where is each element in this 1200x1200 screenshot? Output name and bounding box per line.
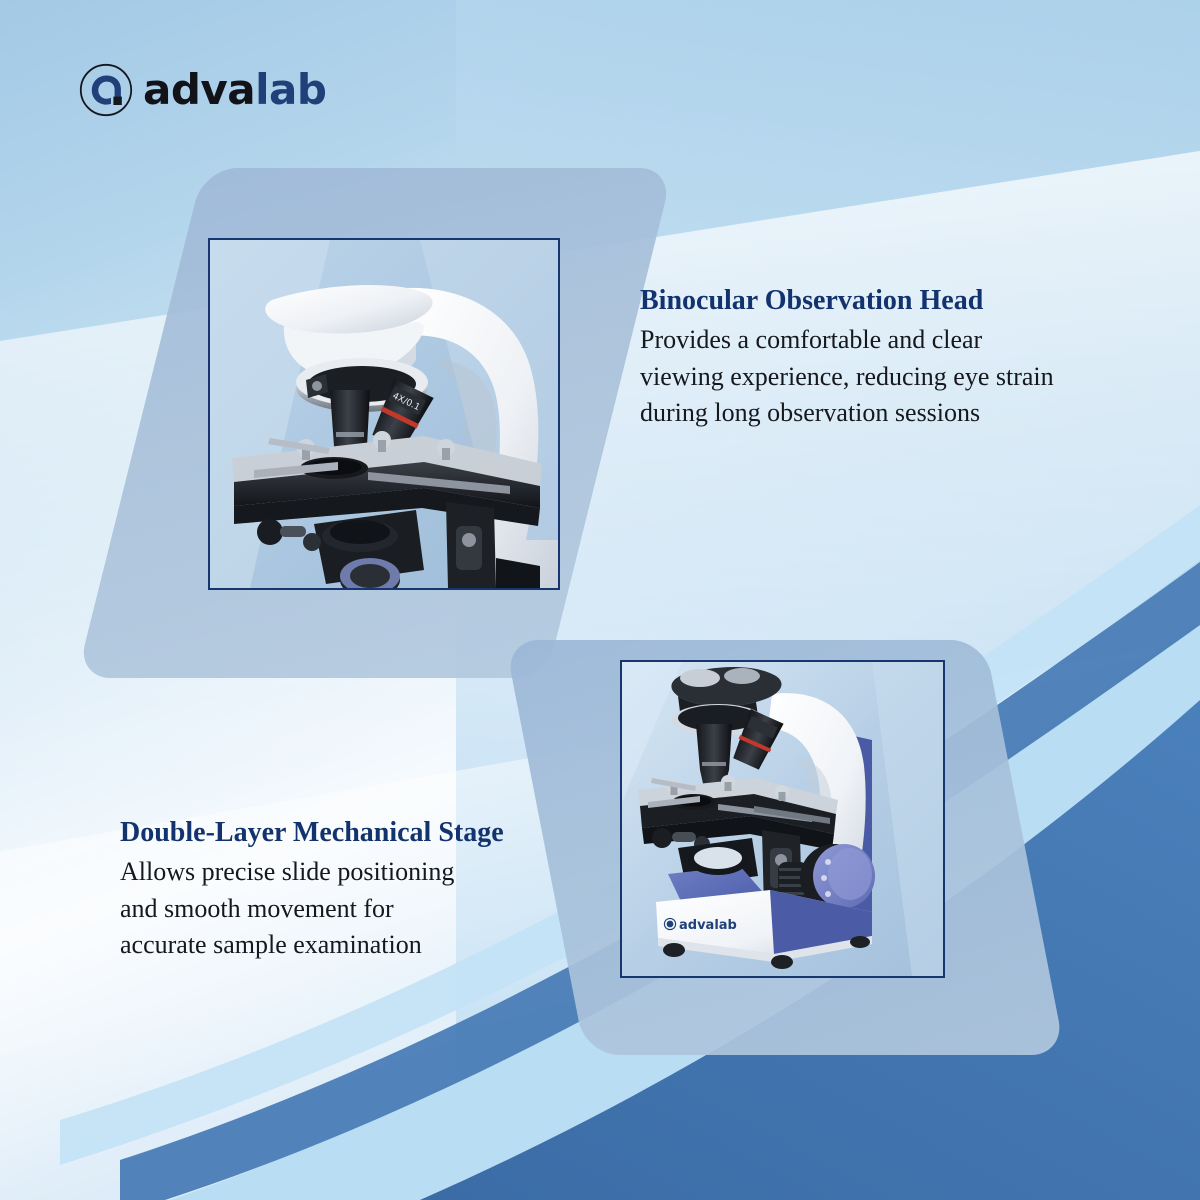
advalab-circle-a-icon xyxy=(78,62,134,118)
feature-body-line: viewing experience, reducing eye strain xyxy=(640,359,1110,396)
feature-image-mechanical-stage[interactable]: advalab xyxy=(620,660,945,978)
brand-wordmark-part2: lab xyxy=(255,65,326,114)
feature-image-binocular-head[interactable]: 4X/0.1 xyxy=(208,238,560,590)
microscope-full-photo: advalab xyxy=(622,662,943,976)
feature-text-mechanical-stage: Double-Layer Mechanical Stage Allows pre… xyxy=(120,816,550,964)
brand-wordmark: advalab xyxy=(143,69,326,111)
feature-title: Double-Layer Mechanical Stage xyxy=(120,816,550,850)
brand-wordmark-part1: adva xyxy=(143,65,255,114)
microscope-closeup-photo: 4X/0.1 xyxy=(210,240,558,588)
feature-body-line: Allows precise slide positioning xyxy=(120,854,550,891)
infographic-canvas: advalab xyxy=(0,0,1200,1200)
brand-logo[interactable]: advalab xyxy=(78,62,326,118)
svg-text:advalab: advalab xyxy=(679,918,737,933)
feature-body-line: during long observation sessions xyxy=(640,395,1110,432)
feature-text-binocular-head: Binocular Observation Head Provides a co… xyxy=(640,284,1110,432)
feature-body-line: Provides a comfortable and clear xyxy=(640,322,1110,359)
feature-body-line: and smooth movement for xyxy=(120,891,550,928)
feature-title: Binocular Observation Head xyxy=(640,284,1110,318)
feature-body-line: accurate sample examination xyxy=(120,927,550,964)
